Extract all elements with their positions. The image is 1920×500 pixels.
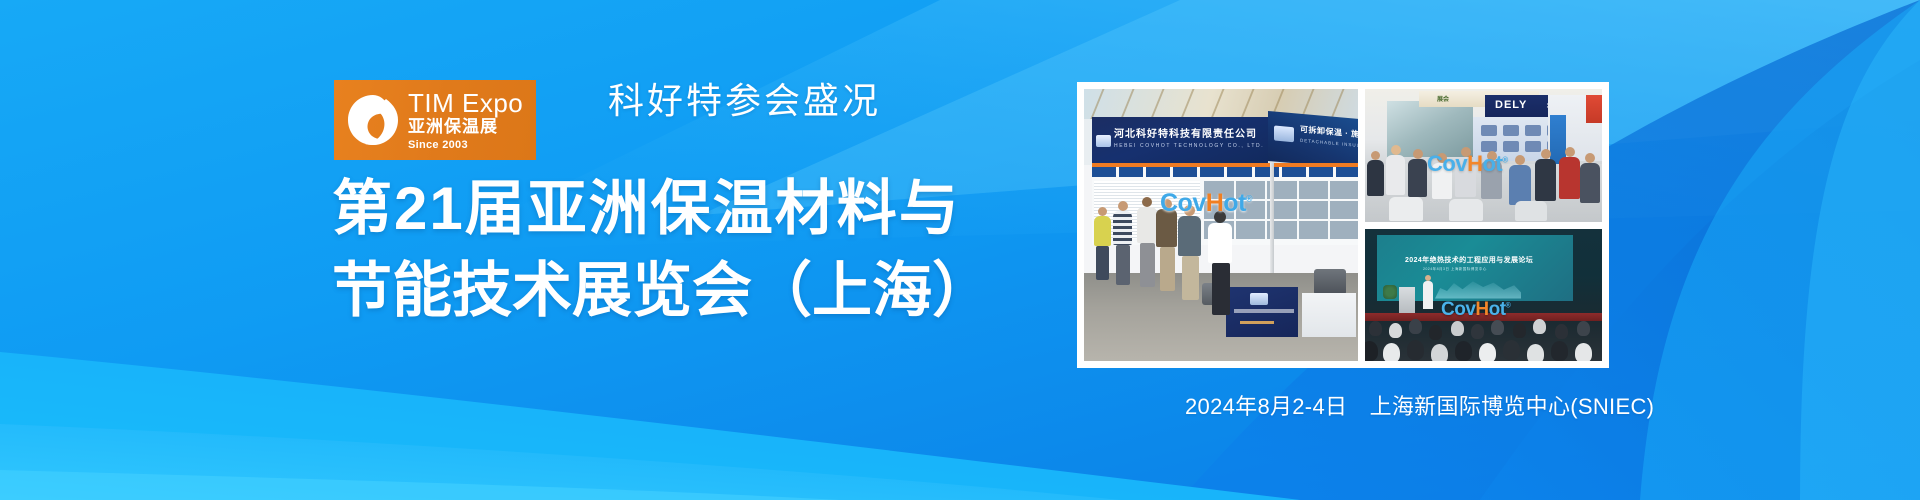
dely-banner-en: DELY — [1495, 99, 1527, 111]
stage-plant — [1383, 285, 1397, 299]
booth-fascia: 河北科好特科技有限责任公司 HEBEI COVHOT TECHNOLOGY CO… — [1092, 117, 1268, 163]
counter-text-line — [1234, 309, 1294, 313]
photo-hall-crowd-image: 展会 DELY 得力 — [1365, 89, 1602, 222]
booth-fascia-en: HEBEI COVHOT TECHNOLOGY CO., LTD. — [1114, 143, 1264, 149]
booth-logo-mark-icon — [1096, 135, 1111, 147]
booth-side-logo-icon — [1274, 126, 1294, 143]
product-machine-right — [1314, 269, 1346, 295]
logo-brand-cn: 亚洲保温展 — [408, 117, 523, 137]
logo-brand-en: TIM Expo — [408, 90, 523, 116]
collage-right-column: 展会 DELY 得力 — [1365, 89, 1602, 361]
eyebrow-headline: 科好特参会盛况 — [608, 78, 881, 124]
tim-expo-logo-badge[interactable]: TIM Expo 亚洲保温展 Since 2003 — [334, 80, 536, 160]
page-title: 第21届亚洲保温材料与 节能技术展览会（上海） — [332, 168, 992, 332]
neighbour-booth-counter — [1302, 293, 1356, 337]
tim-expo-yinyang-leaf-mark-icon — [342, 89, 404, 151]
booth-reception-counter — [1226, 287, 1298, 337]
booth-side-fascia: 可拆卸保温 · 施工省节能 DETACHABLE INSULATION JACK… — [1268, 111, 1358, 169]
forum-speaker — [1423, 281, 1433, 309]
photo-forum[interactable]: 2024年绝热技术的工程应用与发展论坛 2024年8月3日 上海新国际博览中心 — [1365, 229, 1602, 362]
forum-screen-title: 2024年绝热技术的工程应用与发展论坛 — [1405, 255, 1567, 265]
photo-watermark: CovHot® — [1160, 189, 1252, 218]
screen-skyline-graphic — [1435, 277, 1521, 299]
title-line-1: 第21届亚洲保温材料与 — [332, 168, 992, 250]
photo-watermark: CovHot® — [1441, 299, 1510, 321]
exhibition-promo-banner: TIM Expo 亚洲保温展 Since 2003 科好特参会盛况 第21届亚洲… — [0, 0, 1920, 500]
red-banner-strip — [1586, 95, 1602, 123]
logo-mark-svg — [342, 89, 404, 151]
counter-phone-line — [1240, 321, 1274, 324]
forum-screen-subtitle: 2024年8月3日 上海新国际博览中心 — [1423, 267, 1567, 272]
photo-forum-image: 2024年绝热技术的工程应用与发展论坛 2024年8月3日 上海新国际博览中心 — [1365, 229, 1602, 362]
photo-watermark: CovHot® — [1427, 151, 1508, 177]
date-venue-line: 2024年8月2-4日 上海新国际博览中心(SNIEC) — [1185, 393, 1654, 421]
booth-side-en: DETACHABLE INSULATION JACKET — [1300, 138, 1358, 152]
title-line-2: 节能技术展览会（上海） — [332, 250, 992, 332]
booth-fascia-cn: 河北科好特科技有限责任公司 — [1114, 125, 1264, 140]
photo-booth-image: 河北科好特科技有限责任公司 HEBEI COVHOT TECHNOLOGY CO… — [1084, 89, 1358, 361]
logo-text-block: TIM Expo 亚洲保温展 Since 2003 — [408, 88, 523, 152]
photo-booth[interactable]: 河北科好特科技有限责任公司 HEBEI COVHOT TECHNOLOGY CO… — [1084, 89, 1358, 361]
counter-logo-icon — [1250, 293, 1268, 305]
panel-tab-row — [1092, 167, 1358, 177]
photo-collage: 河北科好特科技有限责任公司 HEBEI COVHOT TECHNOLOGY CO… — [1077, 82, 1609, 368]
photo-hall-crowd[interactable]: 展会 DELY 得力 — [1365, 89, 1602, 222]
logo-since-text: Since 2003 — [408, 139, 523, 152]
